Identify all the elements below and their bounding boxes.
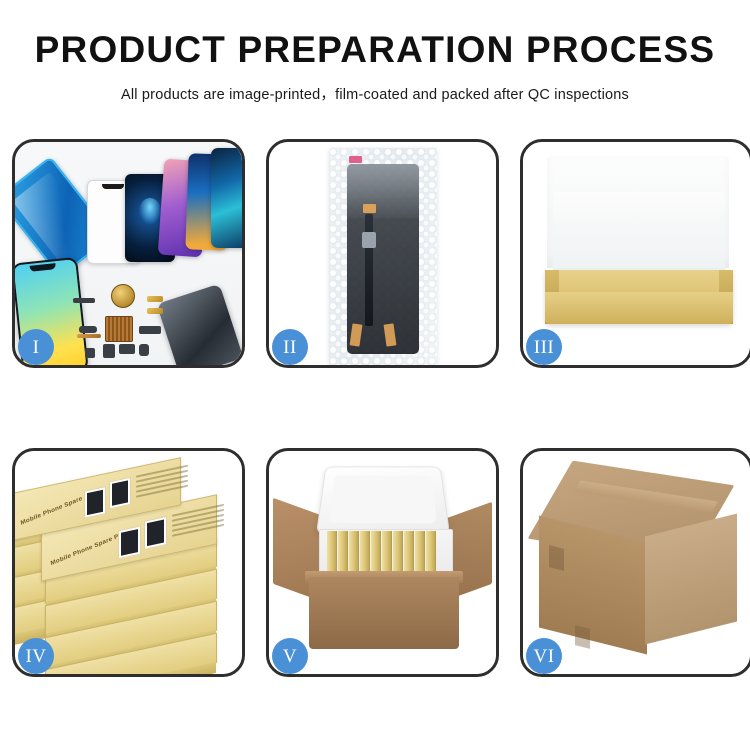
bubble-wrap-bag <box>329 148 437 365</box>
flex-cable-part-a <box>147 296 163 302</box>
carton-side-face <box>645 514 737 645</box>
box-screen-thumb <box>109 477 131 510</box>
speaker-coil-part <box>111 284 135 308</box>
button-flex-part <box>79 326 97 333</box>
camera-module-part <box>139 344 149 356</box>
step-image-1 <box>15 142 242 365</box>
step-panel-5: V <box>266 448 499 677</box>
phone-teal-swirl <box>211 148 242 248</box>
kraft-box-front-wall <box>545 292 733 324</box>
step-image-3 <box>523 142 750 365</box>
product-preparation-infographic: PRODUCT PREPARATION PROCESS All products… <box>0 0 750 750</box>
box-screen-thumb <box>144 516 167 550</box>
retail-box-stack: Mobile Phone Spare Parts Mobile Phone Sp… <box>15 459 242 674</box>
step-panel-4: Mobile Phone Spare Parts Mobile Phone Sp… <box>12 448 245 677</box>
vibrator-part <box>103 344 115 358</box>
screw-set-part <box>85 348 95 358</box>
foam-sheet <box>553 192 725 278</box>
step-panel-3: III <box>520 139 750 368</box>
step-badge-3: III <box>526 329 562 365</box>
camera-flex-part <box>139 326 161 334</box>
step-badge-5: V <box>272 638 308 674</box>
step-image-5 <box>269 451 496 674</box>
sim-tray-part <box>119 344 135 354</box>
carton-body <box>309 577 459 649</box>
protective-tape-top <box>363 204 376 213</box>
step-badge-1: I <box>18 329 54 365</box>
step-badge-6: VI <box>526 638 562 674</box>
flex-cable-part-b <box>147 308 163 314</box>
carton-tab-lower <box>575 625 590 649</box>
page-title: PRODUCT PREPARATION PROCESS <box>0 30 750 71</box>
step-badge-2: II <box>272 329 308 365</box>
foam-lid-open <box>316 467 450 535</box>
steps-grid: I II <box>12 139 738 677</box>
page-subtitle: All products are image-printed，film-coat… <box>0 83 750 104</box>
spare-parts-cluster <box>73 282 203 365</box>
step-panel-6: VI <box>520 448 750 677</box>
step-image-2 <box>269 142 496 365</box>
power-flex-part <box>77 334 101 338</box>
step-image-6 <box>523 451 750 674</box>
step-panel-1: I <box>12 139 245 368</box>
header: PRODUCT PREPARATION PROCESS All products… <box>0 0 750 104</box>
step-panel-2: II <box>266 139 499 368</box>
step-badge-4: IV <box>18 638 54 674</box>
earpiece-part <box>73 298 95 303</box>
step-image-4: Mobile Phone Spare Parts Mobile Phone Sp… <box>15 451 242 674</box>
carton-tab-upper <box>549 545 564 571</box>
box-screen-thumb <box>84 486 106 519</box>
box-screen-thumb <box>118 525 141 559</box>
connector-chip-part <box>105 316 133 342</box>
qc-label <box>349 156 362 163</box>
lcd-driver-ic <box>362 232 376 248</box>
lcd-flex-cable <box>365 214 373 326</box>
